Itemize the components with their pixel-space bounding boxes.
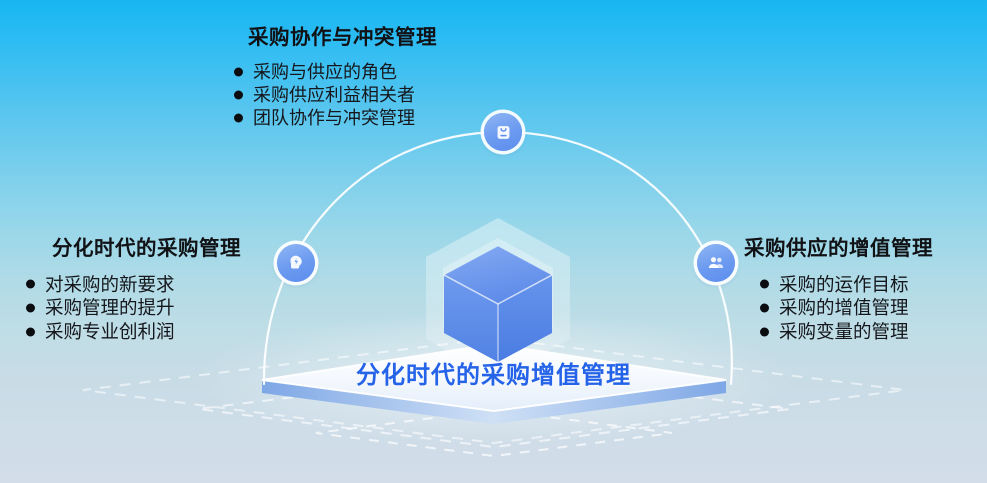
- section-top: 采购协作与冲突管理 采购与供应的角色 采购供应利益相关者 团队协作与冲突管理: [232, 27, 437, 130]
- list-item: 对采购的新要求: [24, 273, 241, 297]
- node-badge-top[interactable]: [484, 113, 522, 151]
- section-left-list: 对采购的新要求 采购管理的提升 采购专业创利润: [24, 273, 241, 344]
- section-top-list: 采购与供应的角色 采购供应利益相关者 团队协作与冲突管理: [232, 61, 437, 130]
- section-left: 分化时代的采购管理 对采购的新要求 采购管理的提升 采购专业创利润: [24, 238, 241, 344]
- center-caption: 分化时代的采购增值管理: [0, 355, 987, 390]
- head-idea-icon: [286, 253, 306, 273]
- list-item: 采购变量的管理: [758, 320, 933, 344]
- node-badge-left[interactable]: [277, 244, 315, 282]
- section-right: 采购供应的增值管理 采购的运作目标 采购的增值管理 采购变量的管理: [744, 238, 933, 344]
- shopping-bag-icon: [494, 123, 513, 142]
- section-left-heading: 分化时代的采购管理: [52, 238, 241, 261]
- section-right-heading: 采购供应的增值管理: [744, 238, 933, 261]
- node-badge-right[interactable]: [697, 244, 735, 282]
- infographic-slide: 采购协作与冲突管理 采购与供应的角色 采购供应利益相关者 团队协作与冲突管理 分…: [0, 0, 987, 483]
- list-item: 采购与供应的角色: [232, 61, 437, 84]
- section-right-list: 采购的运作目标 采购的增值管理 采购变量的管理: [758, 273, 933, 344]
- list-item: 采购的运作目标: [758, 273, 933, 297]
- users-icon: [706, 253, 726, 273]
- list-item: 采购的增值管理: [758, 296, 933, 320]
- list-item: 采购专业创利润: [24, 320, 241, 344]
- list-item: 采购供应利益相关者: [232, 84, 437, 107]
- list-item: 团队协作与冲突管理: [232, 107, 437, 130]
- list-item: 采购管理的提升: [24, 296, 241, 320]
- section-top-heading: 采购协作与冲突管理: [248, 27, 437, 50]
